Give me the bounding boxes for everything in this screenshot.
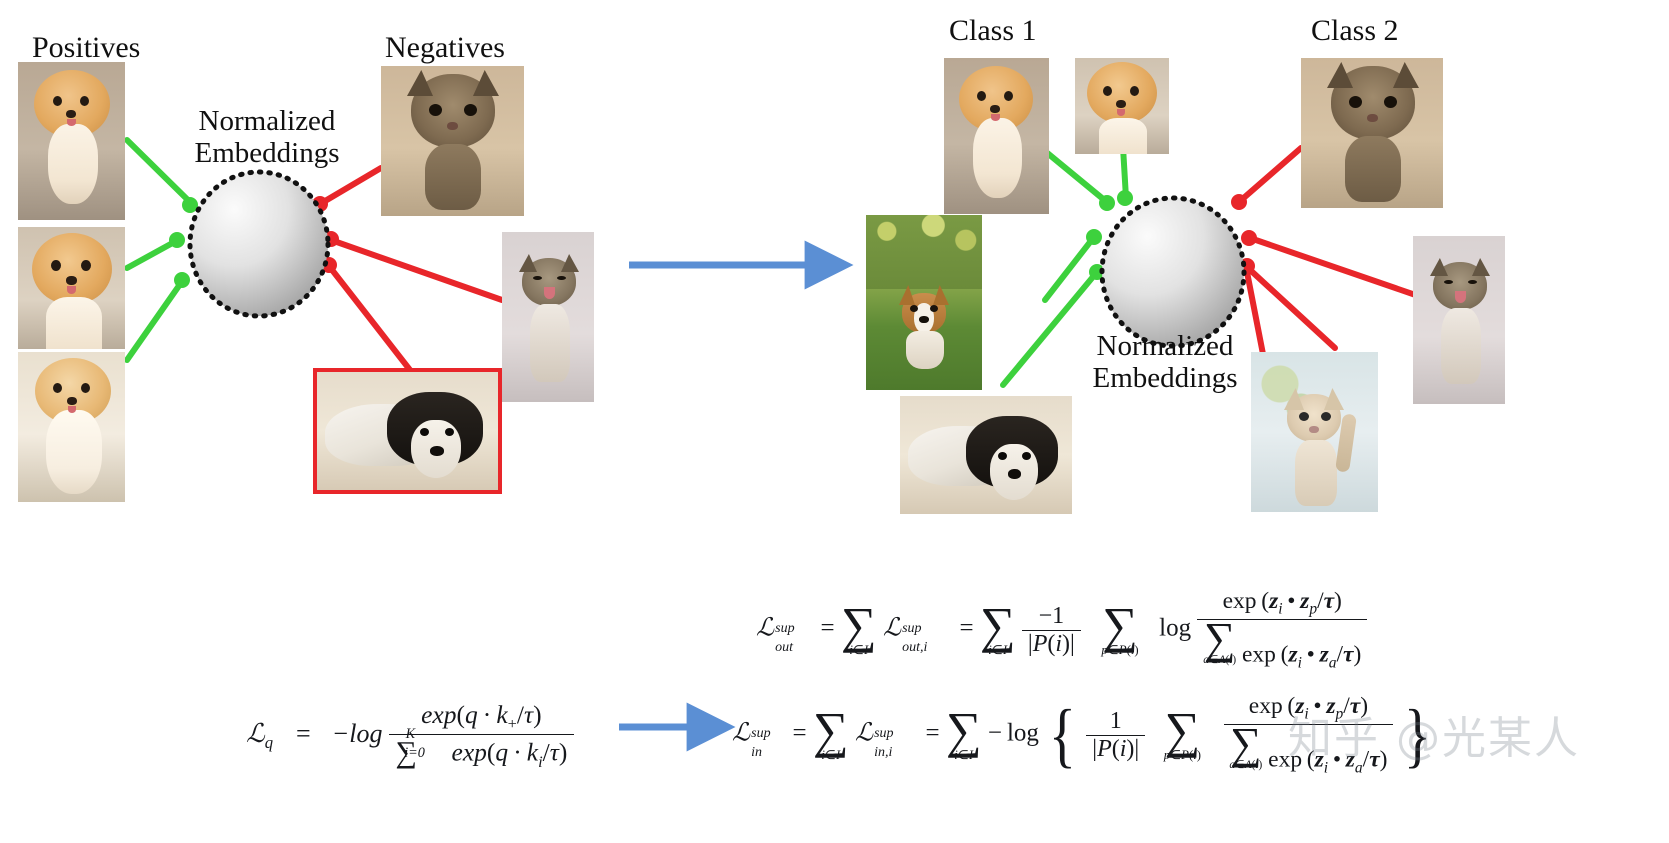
pomeranian-cream-photo [18, 352, 125, 502]
figure-canvas: Positives Negatives Class 1 Class 2 Norm… [0, 0, 1669, 843]
left-embedding-ellipse [190, 172, 328, 316]
left-embedding-label-line2: Embeddings [195, 137, 340, 169]
right-embedding-label-line1: Normalized [1097, 330, 1234, 362]
cream-kitten-standing-photo [1251, 352, 1378, 512]
tabby-kitten-sitting-photo [381, 66, 524, 216]
class2-label: Class 2 [1311, 14, 1399, 48]
tabby-kitten-sitting-photo [1301, 58, 1443, 208]
highlighted-negative-box [313, 368, 502, 494]
negatives-label: Negatives [385, 31, 505, 65]
right-embedding-label: Normalized Embeddings [1079, 330, 1251, 395]
right-embedding-label-line2: Embeddings [1093, 362, 1238, 394]
pomeranian-standing-photo [18, 62, 125, 220]
tabby-kitten-meowing-photo [502, 232, 594, 402]
left-positive-links [127, 140, 192, 360]
left-anchor-dots [169, 196, 339, 288]
pomeranian-closeup-photo [18, 227, 125, 349]
right-embedding-ellipse [1102, 198, 1244, 346]
cavalier-spaniel-photo [900, 396, 1072, 514]
left-embedding-label: Normalized Embeddings [184, 105, 350, 170]
supcon-out-loss-formula: ℒsupout = ∑i∈I ℒsupout,i = ∑i∈I −1 |P(i)… [756, 588, 1367, 672]
class1-label: Class 1 [949, 14, 1037, 48]
corgi-grass-photo [866, 215, 982, 390]
watermark: 知乎 @光某人 [1288, 702, 1580, 766]
positives-label: Positives [32, 31, 140, 65]
contrastive-loss-formula: ℒq = −log exp(q · k+/τ) ∑Ki=0 exp(q · ki… [246, 700, 574, 772]
pomeranian-closeup-photo [1075, 58, 1169, 154]
pomeranian-standing-photo [944, 58, 1049, 214]
tabby-kitten-meowing-photo [1413, 236, 1505, 404]
left-embedding-label-line1: Normalized [199, 105, 336, 137]
right-anchor-dots [1086, 190, 1257, 280]
